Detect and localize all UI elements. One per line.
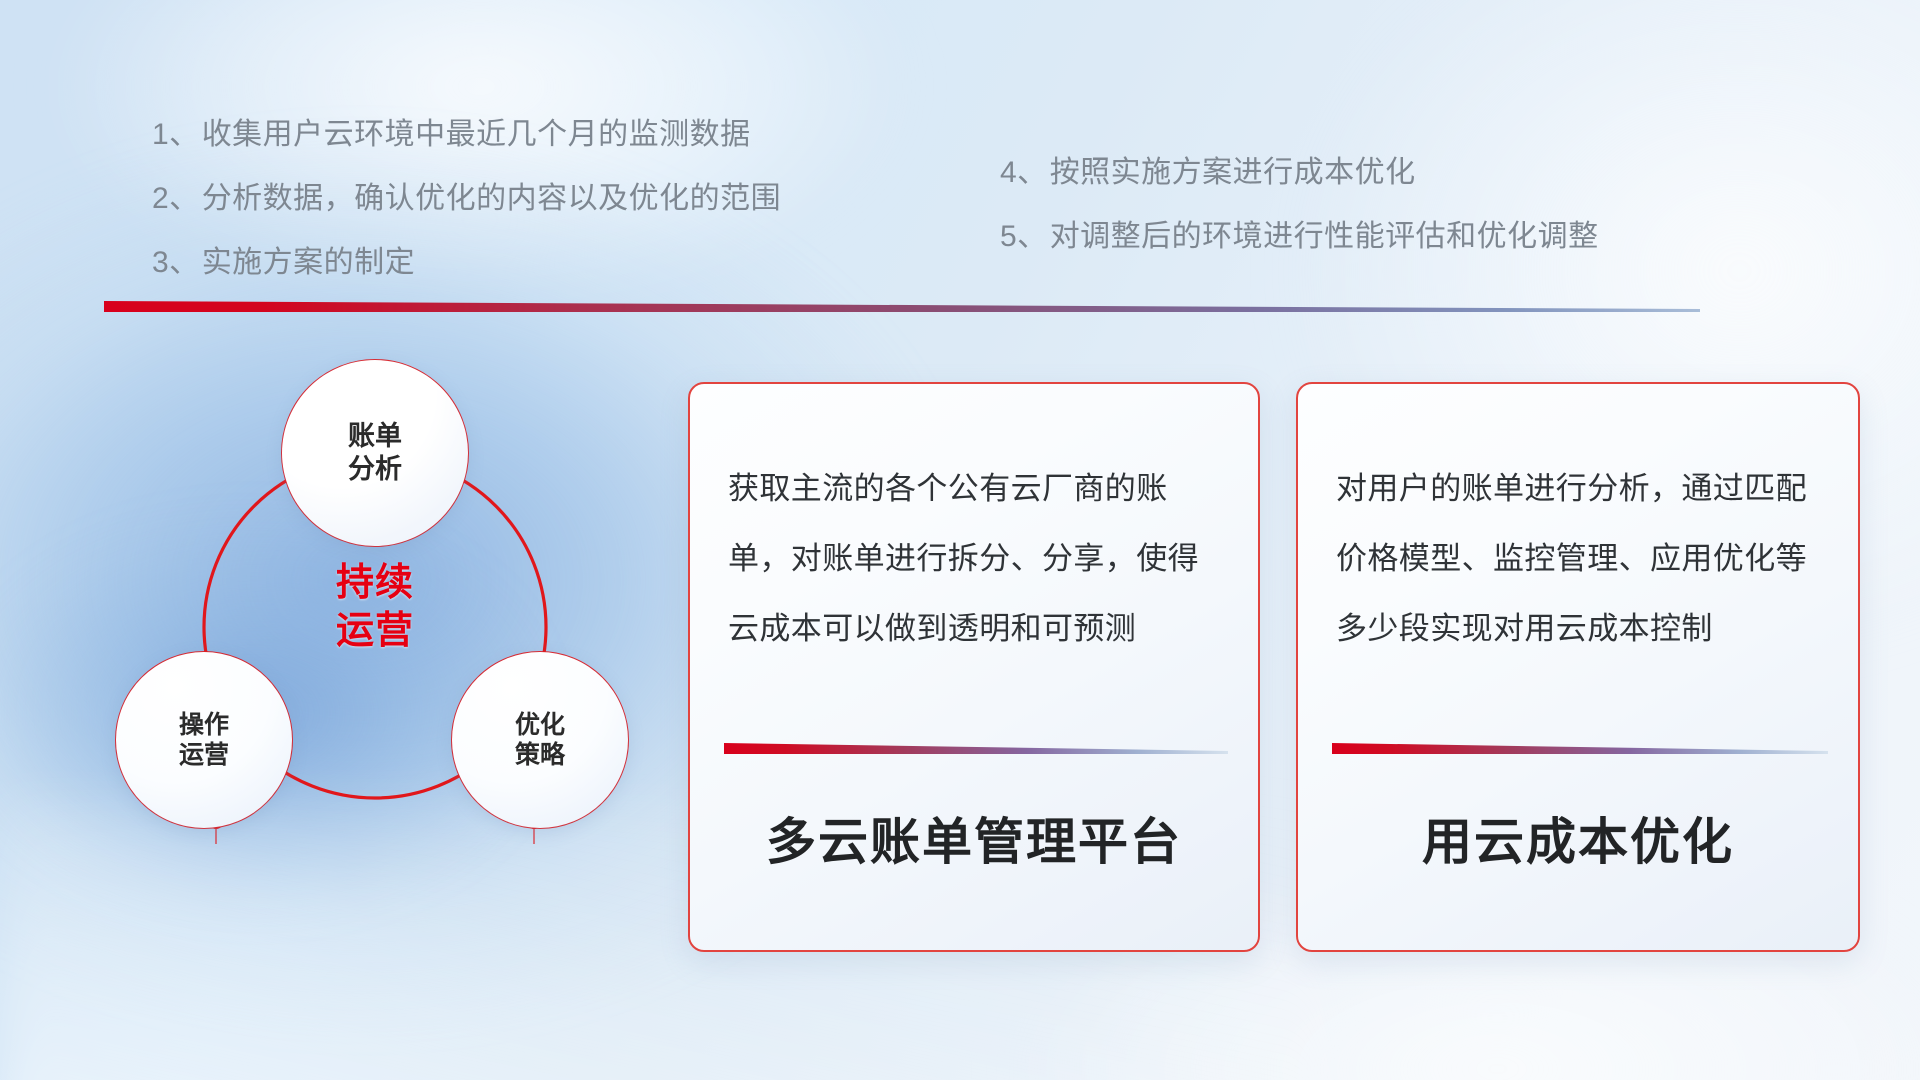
diagram-node-operations[interactable]: 操作 运营 bbox=[116, 652, 292, 828]
card-body-text: 获取主流的各个公有云厂商的账单，对账单进行拆分、分享，使得云成本可以做到透明和可… bbox=[728, 454, 1224, 663]
step-number: 4、 bbox=[1000, 156, 1048, 189]
step-number: 3、 bbox=[152, 246, 200, 279]
center-label-line2: 运营 bbox=[299, 608, 451, 656]
node-label-line1: 操作 bbox=[179, 710, 229, 741]
step-item-5: 5、对调整后的环境进行性能评估和优化调整 bbox=[1000, 222, 1599, 252]
node-label-line1: 优化 bbox=[515, 710, 565, 741]
header-divider bbox=[104, 296, 1700, 322]
center-label-line1: 持续 bbox=[299, 560, 451, 608]
step-number: 2、 bbox=[152, 182, 200, 215]
card-body-text: 对用户的账单进行分析，通过匹配价格模型、监控管理、应用优化等多少段实现对用云成本… bbox=[1336, 454, 1824, 663]
node-label-line2: 分析 bbox=[348, 453, 402, 486]
card-cloud-cost-optimization[interactable]: 对用户的账单进行分析，通过匹配价格模型、监控管理、应用优化等多少段实现对用云成本… bbox=[1296, 382, 1860, 952]
step-text: 分析数据，确认优化的内容以及优化的范围 bbox=[202, 182, 782, 215]
card-title: 多云账单管理平台 bbox=[690, 802, 1258, 874]
diagram-center-label: 持续 运营 bbox=[299, 560, 451, 655]
continuous-operation-diagram: 账单 分析 操作 运营 优化 策略 持续 运营 bbox=[96, 352, 656, 952]
card-multicloud-billing-platform[interactable]: 获取主流的各个公有云厂商的账单，对账单进行拆分、分享，使得云成本可以做到透明和可… bbox=[688, 382, 1260, 952]
step-item-3: 3、实施方案的制定 bbox=[152, 248, 781, 278]
step-text: 实施方案的制定 bbox=[202, 246, 416, 279]
step-number: 5、 bbox=[1000, 220, 1048, 253]
step-text: 按照实施方案进行成本优化 bbox=[1050, 156, 1416, 189]
step-item-1: 1、收集用户云环境中最近几个月的监测数据 bbox=[152, 120, 781, 150]
card-divider bbox=[1332, 740, 1828, 762]
steps-column-left: 1、收集用户云环境中最近几个月的监测数据 2、分析数据，确认优化的内容以及优化的… bbox=[152, 120, 781, 278]
card-title: 用云成本优化 bbox=[1298, 802, 1858, 874]
node-label-line2: 运营 bbox=[179, 740, 229, 771]
node-label-line2: 策略 bbox=[515, 740, 565, 771]
step-number: 1、 bbox=[152, 118, 200, 151]
steps-section: 1、收集用户云环境中最近几个月的监测数据 2、分析数据，确认优化的内容以及优化的… bbox=[0, 0, 1920, 300]
step-item-2: 2、分析数据，确认优化的内容以及优化的范围 bbox=[152, 184, 781, 214]
step-text: 收集用户云环境中最近几个月的监测数据 bbox=[202, 118, 751, 151]
node-label-line1: 账单 bbox=[348, 420, 402, 453]
step-item-4: 4、按照实施方案进行成本优化 bbox=[1000, 158, 1599, 188]
card-divider bbox=[724, 740, 1228, 762]
diagram-node-optimization-strategy[interactable]: 优化 策略 bbox=[452, 652, 628, 828]
diagram-node-bill-analysis[interactable]: 账单 分析 bbox=[282, 360, 468, 546]
step-text: 对调整后的环境进行性能评估和优化调整 bbox=[1050, 220, 1599, 253]
steps-column-right: 4、按照实施方案进行成本优化 5、对调整后的环境进行性能评估和优化调整 bbox=[1000, 158, 1599, 252]
